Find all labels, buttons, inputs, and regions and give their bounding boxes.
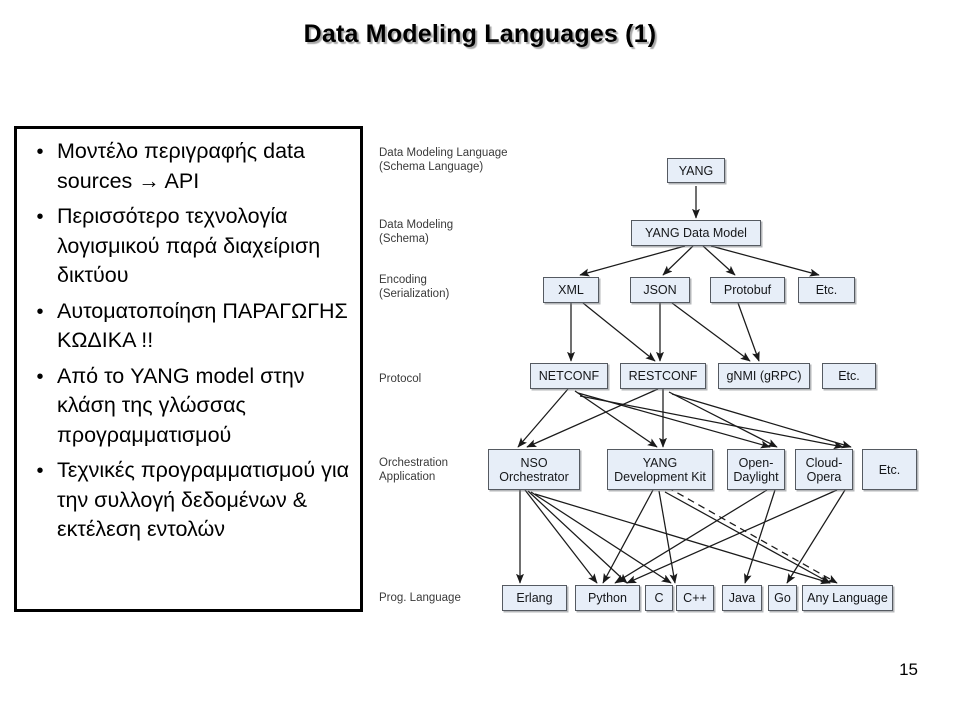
list-item: • Τεχνικές προγραμματισμού για την συλλο… (23, 456, 354, 545)
node-python[interactable]: Python (575, 585, 640, 611)
list-item-label: Περισσότερο τεχνολογία λογισμικού παρά δ… (57, 202, 354, 291)
node-xml[interactable]: XML (543, 277, 599, 303)
node-open-daylight[interactable]: Open- Daylight (727, 449, 785, 490)
node-cloud-opera[interactable]: Cloud- Opera (795, 449, 853, 490)
node-erlang[interactable]: Erlang (502, 585, 567, 611)
node-protocol-etc[interactable]: Etc. (822, 363, 876, 389)
node-orchestration-etc[interactable]: Etc. (862, 449, 917, 490)
bullet-marker-icon: • (23, 456, 57, 486)
node-restconf[interactable]: RESTCONF (620, 363, 706, 389)
node-yang-development-kit[interactable]: YANG Development Kit (607, 449, 713, 490)
bullet-marker-icon: • (23, 362, 57, 392)
row-label-data-modeling: Data Modeling (Schema) (379, 218, 453, 246)
row-label-protocol: Protocol (379, 372, 421, 386)
node-any-language[interactable]: Any Language (802, 585, 893, 611)
node-cpp[interactable]: C++ (676, 585, 714, 611)
node-encoding-etc[interactable]: Etc. (798, 277, 855, 303)
node-protobuf[interactable]: Protobuf (710, 277, 785, 303)
row-label-data-modeling-language: Data Modeling Language (Schema Language) (379, 146, 508, 174)
row-label-prog-language: Prog. Language (379, 591, 461, 605)
list-item: • Μοντέλο περιγραφής data sources → API (23, 137, 354, 196)
node-json[interactable]: JSON (630, 277, 690, 303)
page-number: 15 (899, 660, 918, 680)
bullet-list-panel: • Μοντέλο περιγραφής data sources → API … (14, 126, 363, 612)
node-nso-orchestrator[interactable]: NSO Orchestrator (488, 449, 580, 490)
list-item-label: Τεχνικές προγραμματισμού για την συλλογή… (57, 456, 354, 545)
node-gnmi[interactable]: gNMI (gRPC) (718, 363, 810, 389)
list-item-label: Μοντέλο περιγραφής data sources → API (57, 137, 354, 196)
page-title: Data Modeling Languages (1) (0, 20, 960, 49)
bullet-marker-icon: • (23, 137, 57, 167)
node-yang[interactable]: YANG (667, 158, 725, 183)
list-item: • Περισσότερο τεχνολογία λογισμικού παρά… (23, 202, 354, 291)
node-go[interactable]: Go (768, 585, 797, 611)
architecture-diagram: Data Modeling Language (Schema Language)… (375, 135, 935, 625)
node-c[interactable]: C (645, 585, 673, 611)
row-label-orchestration-application: Orchestration Application (379, 456, 448, 484)
list-item: • Από το YANG model στην κλάση της γλώσσ… (23, 362, 354, 451)
node-netconf[interactable]: NETCONF (530, 363, 608, 389)
bullet-marker-icon: • (23, 297, 57, 327)
list-item-label: Αυτοματοποίηση ΠΑΡΑΓΩΓΗΣ ΚΩΔΙΚΑ !! (57, 297, 354, 356)
row-label-encoding: Encoding (Serialization) (379, 273, 449, 301)
list-item-label: Από το YANG model στην κλάση της γλώσσας… (57, 362, 354, 451)
node-java[interactable]: Java (722, 585, 762, 611)
node-yang-data-model[interactable]: YANG Data Model (631, 220, 761, 246)
bullet-marker-icon: • (23, 202, 57, 232)
list-item: • Αυτοματοποίηση ΠΑΡΑΓΩΓΗΣ ΚΩΔΙΚΑ !! (23, 297, 354, 356)
